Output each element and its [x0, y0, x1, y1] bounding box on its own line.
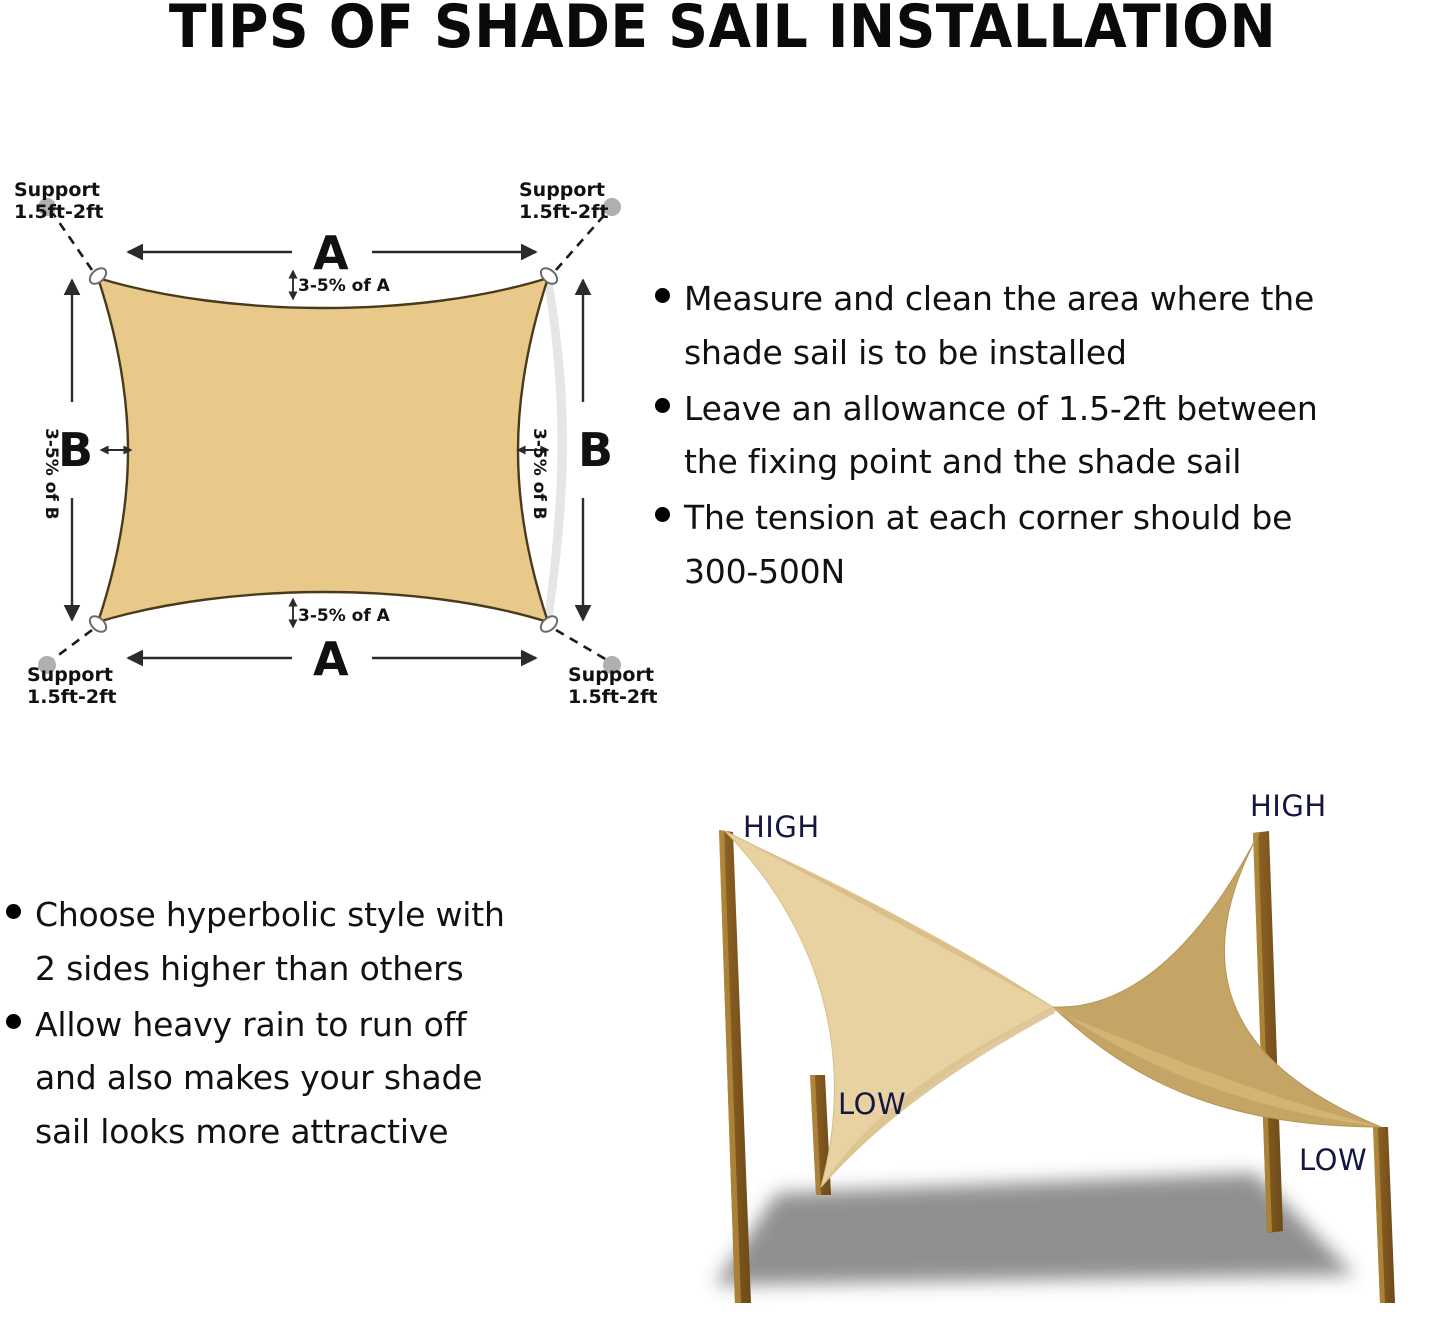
hyperbolic-style-tips-list: Choose hyperbolic style with 2 sides hig… [6, 888, 631, 1161]
list-item-text: Measure and clean the area where the sha… [684, 272, 1314, 380]
ground-shadow [715, 1173, 1355, 1285]
dimension-letter-a-top: A [313, 227, 349, 280]
list-item-line: the fixing point and the shade sail [684, 442, 1241, 481]
shade-sail-shape [98, 278, 548, 622]
hyperbolic-sail-svg [655, 775, 1445, 1319]
list-item: Leave an allowance of 1.5-2ft between th… [655, 382, 1445, 490]
curvature-note-left: 3-5% of B [40, 428, 60, 520]
post-high-right [1253, 831, 1283, 1233]
list-item: Allow heavy rain to run off and also mak… [6, 998, 631, 1159]
sail-panel-left [725, 831, 1053, 1187]
list-item: Measure and clean the area where the sha… [655, 272, 1445, 380]
bullet-dot-icon [6, 904, 21, 919]
list-item-text: Allow heavy rain to run off and also mak… [35, 998, 482, 1159]
list-item-line: shade sail is to be installed [684, 333, 1127, 372]
dimension-letter-b-right: B [578, 424, 613, 477]
support-label-top-left: Support 1.5ft-2ft [14, 180, 103, 224]
dimension-letter-a-bottom: A [313, 633, 349, 686]
installation-tips-list: Measure and clean the area where the sha… [655, 272, 1445, 601]
infographic-page: TIPS OF SHADE SAIL INSTALLATION [0, 0, 1445, 1319]
support-label-line1: Support [519, 179, 605, 201]
list-item-text: The tension at each corner should be 300… [684, 491, 1292, 599]
post-high-left [719, 830, 751, 1303]
support-label-bottom-right: Support 1.5ft-2ft [568, 665, 657, 709]
list-item-line: and also makes your shade [35, 1058, 482, 1097]
list-item-line: 300-500N [684, 552, 845, 591]
list-item: The tension at each corner should be 300… [655, 491, 1445, 599]
list-item-line: 2 sides higher than others [35, 949, 463, 988]
bullet-dot-icon [655, 398, 670, 413]
hyperbolic-sail-illustration: HIGH HIGH LOW LOW [655, 775, 1445, 1319]
label-low-left: LOW [838, 1087, 906, 1121]
list-item-line: sail looks more attractive [35, 1112, 448, 1151]
label-high-right: HIGH [1250, 789, 1327, 823]
list-item: Choose hyperbolic style with 2 sides hig… [6, 888, 631, 996]
bullet-dot-icon [655, 507, 670, 522]
support-label-line2: 1.5ft-2ft [14, 202, 103, 224]
curvature-note-right: 3-5% of B [528, 428, 548, 520]
post-low-right [1373, 1127, 1395, 1303]
support-label-line1: Support [568, 664, 654, 686]
support-label-line1: Support [27, 664, 113, 686]
list-item-line: Choose hyperbolic style with [35, 895, 505, 934]
support-label-bottom-left: Support 1.5ft-2ft [27, 665, 116, 709]
list-item-line: Allow heavy rain to run off [35, 1005, 466, 1044]
support-label-line2: 1.5ft-2ft [27, 687, 116, 709]
page-title: TIPS OF SHADE SAIL INSTALLATION [58, 0, 1387, 59]
list-item-text: Choose hyperbolic style with 2 sides hig… [35, 888, 505, 996]
curvature-note-top: 3-5% of A [298, 277, 390, 297]
support-label-line2: 1.5ft-2ft [519, 202, 608, 224]
list-item-line: The tension at each corner should be [684, 498, 1292, 537]
support-label-line2: 1.5ft-2ft [568, 687, 657, 709]
list-item-line: Measure and clean the area where the [684, 279, 1314, 318]
bullet-dot-icon [6, 1014, 21, 1029]
label-low-right: LOW [1299, 1143, 1367, 1177]
support-label-top-right: Support 1.5ft-2ft [519, 180, 608, 224]
support-label-line1: Support [14, 179, 100, 201]
dimension-letter-b-left: B [58, 424, 93, 477]
label-high-left: HIGH [743, 810, 820, 844]
list-item-text: Leave an allowance of 1.5-2ft between th… [684, 382, 1318, 490]
curvature-note-bottom: 3-5% of A [298, 607, 390, 627]
list-item-line: Leave an allowance of 1.5-2ft between [684, 389, 1318, 428]
bullet-dot-icon [655, 288, 670, 303]
